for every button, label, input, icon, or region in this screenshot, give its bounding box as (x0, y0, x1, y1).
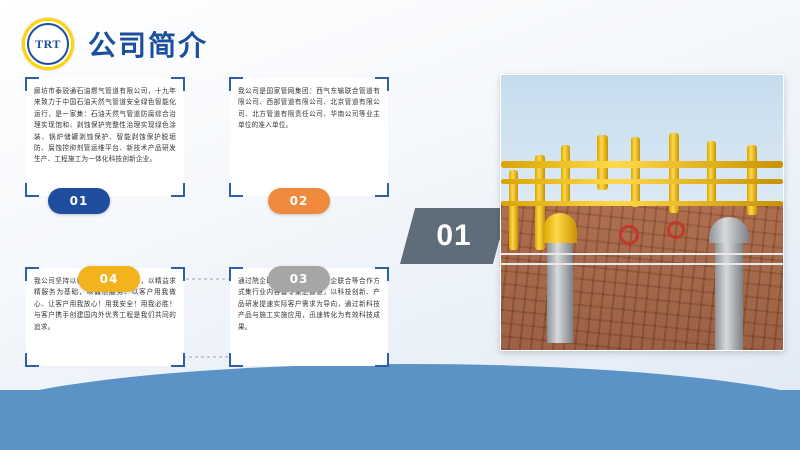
card-text: 我公司是国家管网集团：西气东输联合管道有限公司、西部管道有限公司、北京管道有限公… (238, 86, 380, 132)
card-text: 廊坊市泰锐通石油燃气管道有限公司，十九年来致力于中国石油天然气管道安全绿色智能化… (34, 86, 176, 166)
pipe-yellow (631, 137, 640, 207)
card-corner-bottom-right (171, 183, 185, 197)
pipe-header (501, 201, 783, 206)
card-corner-bottom-left (25, 353, 39, 367)
card-corner-top-right (171, 267, 185, 281)
info-card-02[interactable]: 我公司是国家管网集团：西气东输联合管道有限公司、西部管道有限公司、北京管道有限公… (230, 78, 388, 196)
photo-image (501, 75, 783, 350)
pipe-elbow-right (715, 225, 743, 350)
railing (501, 253, 783, 255)
card-corner-top-right (375, 77, 389, 91)
step-badge-01[interactable]: 01 (48, 188, 110, 214)
card-corner-top-left (229, 267, 243, 281)
page-title: 公司简介 (88, 24, 208, 64)
section-number-chevron: 01 (400, 208, 508, 264)
railing (501, 263, 783, 265)
logo-ring: TRT (27, 23, 69, 65)
card-corner-top-right (375, 267, 389, 281)
valve-wheel-icon (667, 221, 685, 239)
slide-root: TRT 公司简介 廊坊市泰锐通石油燃气管道有限公司，十九年来致力于中国石油天然气… (0, 0, 800, 450)
pipe-header (501, 179, 783, 184)
valve-wheel-icon (619, 225, 639, 245)
card-corner-bottom-right (171, 353, 185, 367)
card-corner-bottom-right (375, 353, 389, 367)
card-corner-top-left (229, 77, 243, 91)
cards-region: 廊坊市泰锐通石油燃气管道有限公司，十九年来致力于中国石油天然气管道安全绿色智能化… (26, 78, 388, 378)
card-corner-bottom-left (229, 183, 243, 197)
step-badge-02[interactable]: 02 (268, 188, 330, 214)
step-badge-03[interactable]: 03 (268, 266, 330, 292)
card-corner-bottom-left (229, 353, 243, 367)
section-number: 01 (436, 219, 471, 253)
pipe-yellow (707, 141, 716, 203)
trt-logo-icon: TRT (22, 18, 74, 70)
pipe-header (501, 161, 783, 168)
card-corner-bottom-left (25, 183, 39, 197)
slide-header: TRT 公司简介 (22, 18, 208, 70)
info-card-01[interactable]: 廊坊市泰锐通石油燃气管道有限公司，十九年来致力于中国石油天然气管道安全绿色智能化… (26, 78, 184, 196)
wave-band (0, 390, 800, 450)
pipe-elbow-left-top (543, 213, 577, 243)
card-corner-bottom-right (375, 183, 389, 197)
pipe-yellow (561, 145, 570, 205)
station-photo (500, 74, 784, 351)
logo-text: TRT (35, 37, 61, 52)
step-badge-04[interactable]: 04 (78, 266, 140, 292)
card-corner-top-left (25, 77, 39, 91)
card-corner-top-right (171, 77, 185, 91)
card-corner-top-left (25, 267, 39, 281)
